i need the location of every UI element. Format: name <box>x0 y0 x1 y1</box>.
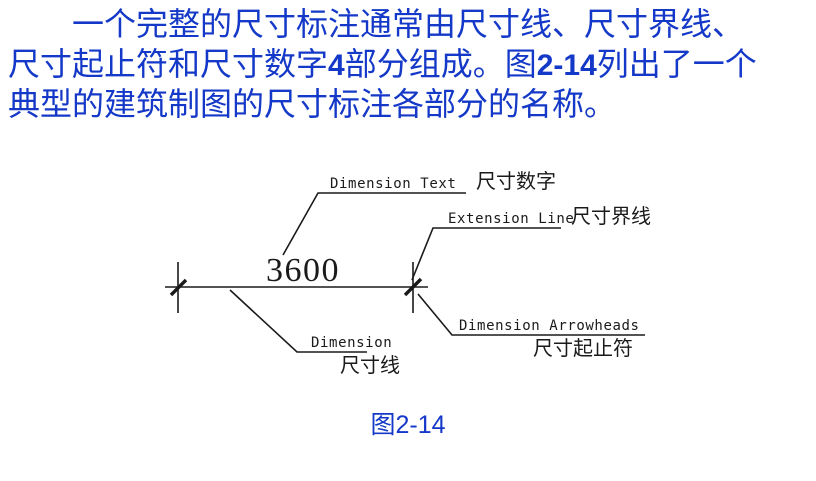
diagram-canvas: 3600 Dimension Text 尺寸数字 Extension Line … <box>0 150 816 440</box>
figure-caption-prefix: 图 <box>370 412 395 439</box>
label-dimension-en: Dimension <box>311 335 392 351</box>
label-extension-line-cn: 尺寸界线 <box>571 205 651 228</box>
paragraph-line-2-text-a: 尺寸起止符和尺寸数字 <box>8 46 328 82</box>
paragraph-line-3: 典型的建筑制图的尺寸标注各部分的名称。 <box>0 84 816 124</box>
leader-dimension-text <box>283 193 466 255</box>
body-paragraph: 一个完整的尺寸标注通常由尺寸线、尺寸界线、 尺寸起止符和尺寸数字4部分组成。图2… <box>0 4 816 124</box>
paragraph-line-2-figure-ref: 2-14 <box>537 49 597 82</box>
dimension-value-text: 3600 <box>266 252 340 289</box>
paragraph-line-2-text-e: 列出了一个 <box>597 46 757 82</box>
figure-caption-number: 2-14 <box>395 411 445 439</box>
label-extension-line-en: Extension Line <box>448 211 574 227</box>
dimension-annotation-diagram: 3600 Dimension Text 尺寸数字 Extension Line … <box>0 150 816 440</box>
label-dimension-text-cn: 尺寸数字 <box>476 170 556 193</box>
paragraph-line-2: 尺寸起止符和尺寸数字4部分组成。图2-14列出了一个 <box>0 44 816 84</box>
label-dimension-arrowheads-cn: 尺寸起止符 <box>533 337 633 360</box>
label-dimension-text-en: Dimension Text <box>330 176 456 192</box>
paragraph-line-2-text-c: 部分组成。图 <box>345 46 537 82</box>
paragraph-line-1: 一个完整的尺寸标注通常由尺寸线、尺寸界线、 <box>0 4 816 44</box>
leader-extension-line <box>412 228 561 280</box>
label-dimension-cn: 尺寸线 <box>340 354 400 377</box>
paragraph-line-3-text: 典型的建筑制图的尺寸标注各部分的名称。 <box>8 86 616 122</box>
paragraph-line-1-text: 一个完整的尺寸标注通常由尺寸线、尺寸界线、 <box>72 6 744 42</box>
paragraph-line-2-number-4: 4 <box>328 49 345 82</box>
figure-caption: 图2-14 <box>0 409 816 442</box>
label-dimension-arrowheads-en: Dimension Arrowheads <box>459 318 640 334</box>
